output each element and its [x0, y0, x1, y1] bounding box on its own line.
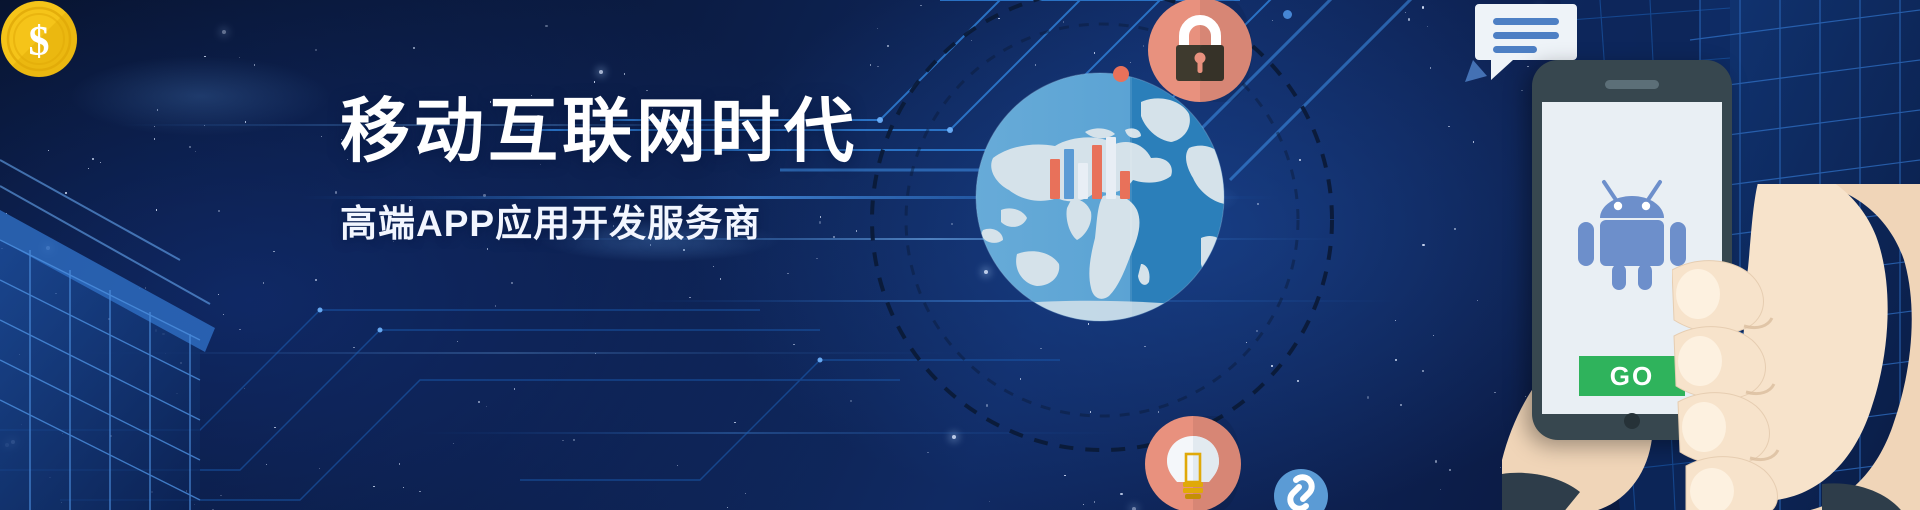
hero-banner: 移动互联网时代 高端APP应用开发服务商: [0, 0, 1920, 510]
phone-in-hand-illustration: GO: [1502, 44, 1920, 510]
banner-copy: 移动互联网时代 高端APP应用开发服务商: [340, 96, 858, 247]
lightbulb-icon: [1145, 416, 1241, 510]
phone-home-button[interactable]: [1624, 413, 1640, 429]
page-subtitle: 高端APP应用开发服务商: [340, 193, 858, 247]
link-chain-icon: [1272, 462, 1330, 510]
right-hand-fingers: [1672, 184, 1920, 510]
page-title: 移动互联网时代: [340, 96, 858, 167]
go-button[interactable]: GO: [1579, 356, 1685, 396]
lock-icon: [1148, 0, 1252, 102]
phone-speaker: [1605, 80, 1659, 89]
decor-dot-salmon: [1113, 66, 1129, 82]
decor-dot-blue: [1283, 10, 1292, 19]
bar-chart-icon: [1048, 137, 1138, 199]
